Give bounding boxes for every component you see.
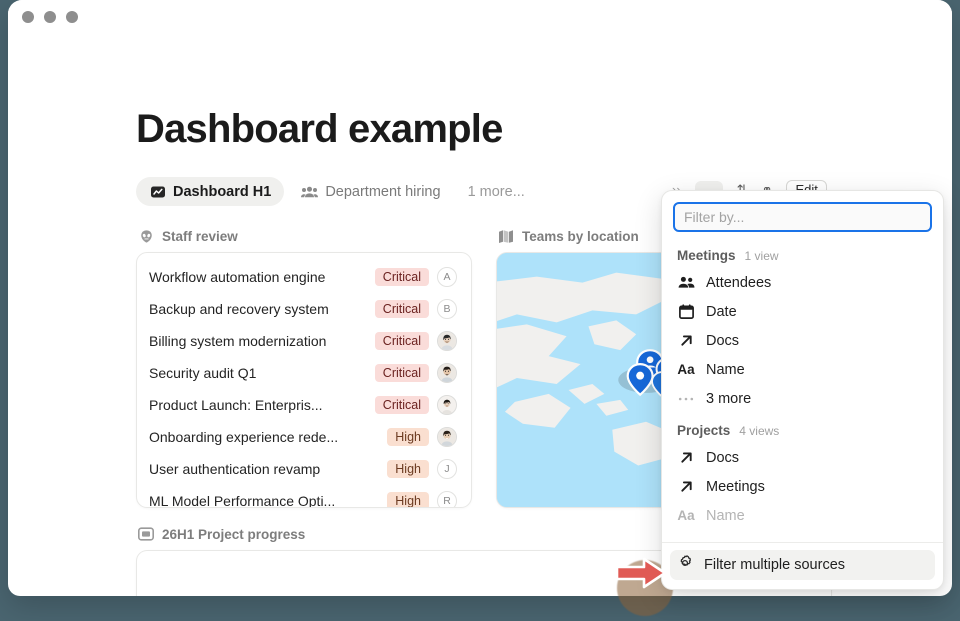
minimize-button-icon[interactable]: [44, 11, 56, 23]
text-aa-icon: Aa: [677, 507, 695, 525]
popover-footer: Filter multiple sources: [662, 542, 943, 589]
popover-search-wrap: [662, 191, 943, 238]
popover-item-label: Date: [706, 304, 737, 320]
arrow-up-right-icon: [677, 332, 695, 350]
popover-item-label: Name: [706, 362, 745, 378]
gallery-icon: [138, 526, 154, 542]
table-row[interactable]: Onboarding experience rede... High: [137, 421, 471, 453]
alien-face-icon: [138, 228, 154, 244]
close-button-icon[interactable]: [22, 11, 34, 23]
filter-multiple-sources-button[interactable]: Filter multiple sources: [670, 550, 935, 580]
page-title: Dashboard example: [136, 107, 952, 151]
table-row[interactable]: User authentication revamp High J: [137, 453, 471, 485]
avatar: [437, 363, 457, 383]
popover-item-date[interactable]: Date: [670, 297, 935, 326]
avatar: B: [437, 299, 457, 319]
avatar: A: [437, 267, 457, 287]
table-row[interactable]: ML Model Performance Opti... High R: [137, 485, 471, 508]
popover-item-label: Docs: [706, 450, 739, 466]
filter-source-popover: Meetings 1 view Attendees Date Docs: [661, 190, 944, 590]
section-count: 1 view: [745, 249, 779, 263]
popover-item-label: Meetings: [706, 479, 765, 495]
people-icon: [677, 274, 695, 292]
avatar: [437, 331, 457, 351]
avatar: [437, 427, 457, 447]
priority-badge: Critical: [375, 268, 429, 286]
window-titlebar: [8, 0, 952, 34]
annotation-arrow-icon: [614, 556, 668, 590]
table-row[interactable]: Security audit Q1 Critical: [137, 357, 471, 389]
priority-badge: Critical: [375, 396, 429, 414]
row-title: Security audit Q1: [149, 365, 367, 381]
people-icon: [301, 183, 318, 200]
popover-item-label: 3 more: [706, 391, 751, 407]
popover-item-projects-name[interactable]: Aa Name: [670, 501, 935, 530]
table-row[interactable]: Workflow automation engine Critical A: [137, 261, 471, 293]
widget-staff-review: Staff review Workflow automation engine …: [136, 228, 472, 508]
calendar-icon: [677, 303, 695, 321]
staff-review-card: Workflow automation engine Critical A Ba…: [136, 252, 472, 508]
avatar: [437, 395, 457, 415]
widget-header: Staff review: [136, 228, 472, 244]
tab-label: Department hiring: [325, 184, 440, 200]
row-title: User authentication revamp: [149, 461, 379, 477]
section-count: 4 views: [739, 424, 779, 438]
table-row[interactable]: Billing system modernization Critical: [137, 325, 471, 357]
section-header-projects: Projects 4 views: [670, 413, 935, 443]
widget-header-label: Staff review: [162, 229, 238, 244]
section-header-meetings: Meetings 1 view: [670, 238, 935, 268]
staff-review-list: Workflow automation engine Critical A Ba…: [137, 261, 471, 508]
popover-body: Meetings 1 view Attendees Date Docs: [662, 238, 943, 542]
popover-item-name[interactable]: Aa Name: [670, 355, 935, 384]
popover-item-attendees[interactable]: Attendees: [670, 268, 935, 297]
avatar: J: [437, 459, 457, 479]
row-title: Product Launch: Enterpris...: [149, 397, 367, 413]
traffic-lights: [22, 11, 78, 23]
popover-item-label: Attendees: [706, 275, 771, 291]
row-title: Onboarding experience rede...: [149, 429, 379, 445]
row-title: Workflow automation engine: [149, 269, 367, 285]
filter-multiple-sources-label: Filter multiple sources: [704, 557, 845, 573]
popover-item-projects-meetings[interactable]: Meetings: [670, 472, 935, 501]
search-input[interactable]: [673, 202, 932, 232]
popover-item-projects-docs[interactable]: Docs: [670, 443, 935, 472]
tab-department-hiring[interactable]: Department hiring: [288, 177, 453, 206]
popover-item-docs[interactable]: Docs: [670, 326, 935, 355]
chart-line-icon: [149, 183, 166, 200]
tab-dashboard-h1[interactable]: Dashboard H1: [136, 177, 284, 206]
table-row[interactable]: Backup and recovery system Critical B: [137, 293, 471, 325]
widget-header-label: 26H1 Project progress: [162, 527, 305, 542]
row-title: Backup and recovery system: [149, 301, 367, 317]
section-title: Meetings: [677, 248, 736, 263]
widget-header-label: Teams by location: [522, 229, 639, 244]
priority-badge: Critical: [375, 332, 429, 350]
priority-badge: High: [387, 428, 429, 446]
popover-item-3-more[interactable]: 3 more: [670, 384, 935, 413]
tabs-more-button[interactable]: 1 more...: [458, 178, 535, 206]
priority-badge: Critical: [375, 364, 429, 382]
folded-map-icon: [498, 228, 514, 244]
tab-label: Dashboard H1: [173, 184, 271, 200]
priority-badge: High: [387, 460, 429, 478]
avatar: R: [437, 491, 457, 508]
arrow-up-right-icon: [677, 449, 695, 467]
priority-badge: High: [387, 492, 429, 508]
priority-badge: Critical: [375, 300, 429, 318]
row-title: Billing system modernization: [149, 333, 367, 349]
ellipsis-icon: [677, 390, 695, 408]
table-row[interactable]: Product Launch: Enterpris... Critical: [137, 389, 471, 421]
section-title: Projects: [677, 423, 730, 438]
maximize-button-icon[interactable]: [66, 11, 78, 23]
popover-item-label: Docs: [706, 333, 739, 349]
gear-icon: [677, 555, 693, 575]
screen-root: Dashboard example Dashboard H1: [0, 0, 960, 621]
row-title: ML Model Performance Opti...: [149, 493, 379, 508]
popover-item-label: Name: [706, 508, 745, 524]
text-aa-icon: Aa: [677, 361, 695, 379]
arrow-up-right-icon: [677, 478, 695, 496]
